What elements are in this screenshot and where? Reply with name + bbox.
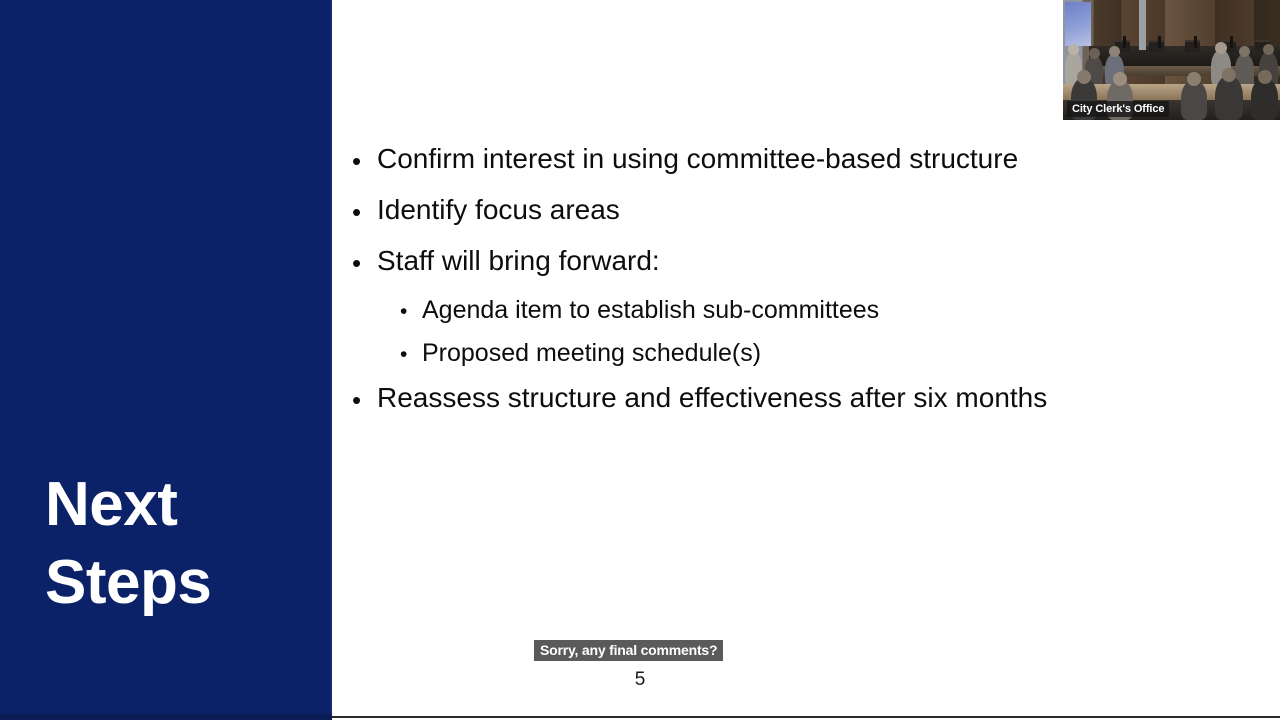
thumbnail-microphone <box>1158 36 1161 48</box>
bullet-point-icon: • <box>352 193 377 225</box>
thumbnail-person-head <box>1077 70 1091 84</box>
thumbnail-person-head <box>1068 44 1079 55</box>
thumbnail-person-foreground <box>1215 76 1243 120</box>
page-title: Next Steps <box>45 466 325 622</box>
bullet-point-icon: • <box>352 381 377 413</box>
thumbnail-monitor <box>1185 40 1200 52</box>
thumbnail-person-head <box>1187 72 1201 86</box>
list-item: • Identify focus areas <box>352 193 1252 227</box>
thumbnail-column <box>1139 0 1146 50</box>
bullet-list: • Confirm interest in using committee-ba… <box>352 142 1252 432</box>
list-item-text: Reassess structure and effectiveness aft… <box>377 381 1252 415</box>
thumbnail-person-head <box>1258 70 1272 84</box>
list-item-text: Staff will bring forward: <box>377 244 1252 278</box>
bullet-point-icon: • <box>352 142 377 174</box>
list-item-text: Agenda item to establish sub-committees <box>422 295 1252 326</box>
thumbnail-person-foreground <box>1181 80 1207 120</box>
thumbnail-microphone <box>1123 36 1126 48</box>
thumbnail-person-head <box>1222 68 1236 82</box>
list-item-text: Confirm interest in using committee-base… <box>377 142 1252 176</box>
list-item: • Staff will bring forward: <box>352 244 1252 278</box>
list-item-text: Identify focus areas <box>377 193 1252 227</box>
thumbnail-person-head <box>1239 46 1250 57</box>
thumbnail-microphone <box>1230 36 1233 48</box>
thumbnail-person-foreground <box>1251 78 1278 120</box>
list-item-sub: • Agenda item to establish sub-committee… <box>352 295 1252 326</box>
slide-bottom-edge-left <box>0 714 332 720</box>
live-caption-bar: Sorry, any final comments? <box>534 640 723 661</box>
list-item-sub: • Proposed meeting schedule(s) <box>352 338 1252 369</box>
thumbnail-microphone <box>1194 36 1197 48</box>
bullet-point-icon: • <box>400 295 422 322</box>
thumbnail-person-head <box>1109 46 1120 57</box>
thumbnail-person-head <box>1263 44 1274 55</box>
thumbnail-person-head <box>1113 72 1127 86</box>
thumbnail-monitor <box>1149 40 1164 52</box>
slide-bottom-edge <box>332 716 1280 718</box>
list-item-text: Proposed meeting schedule(s) <box>422 338 1252 369</box>
list-item: • Confirm interest in using committee-ba… <box>352 142 1252 176</box>
bullet-point-icon: • <box>352 244 377 276</box>
video-thumbnail[interactable]: City Clerk's Office <box>1063 0 1280 120</box>
thumbnail-person-head <box>1089 48 1100 59</box>
thumbnail-person-head <box>1215 42 1227 54</box>
slide-number: 5 <box>600 668 680 692</box>
list-item: • Reassess structure and effectiveness a… <box>352 381 1252 415</box>
bullet-point-icon: • <box>400 338 422 365</box>
thumbnail-window <box>1065 2 1091 46</box>
presentation-slide: Next Steps • Confirm interest in using c… <box>0 0 1280 720</box>
video-thumbnail-label: City Clerk's Office <box>1067 101 1169 117</box>
